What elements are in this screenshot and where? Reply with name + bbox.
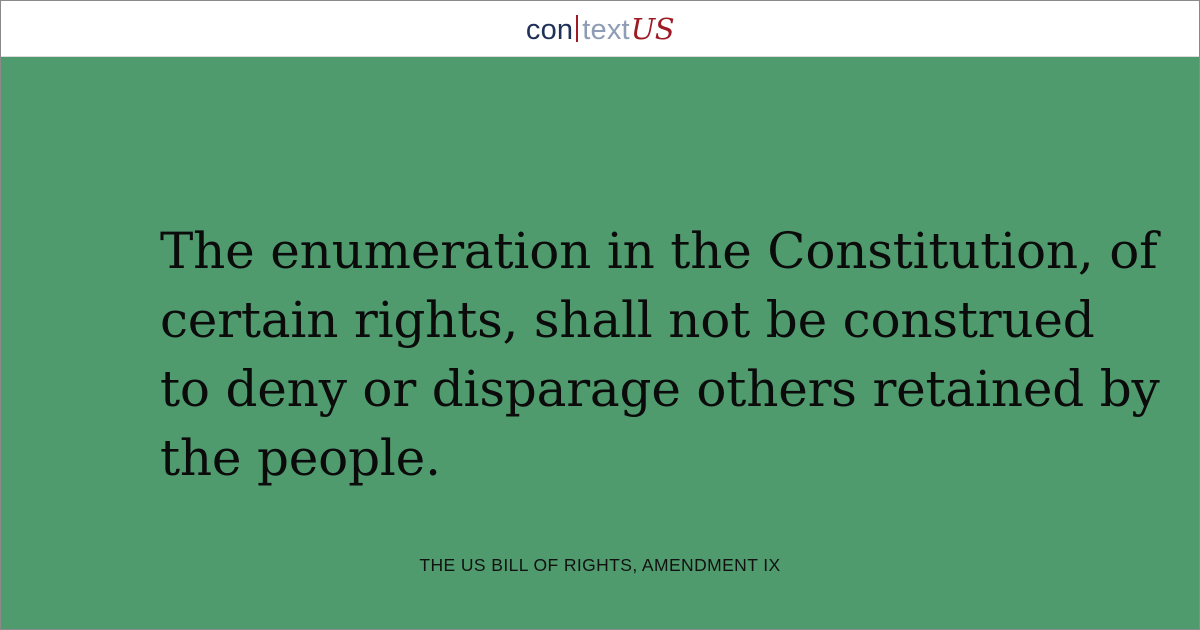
quote-line: the people. (160, 424, 1150, 493)
site-header: con text US (1, 1, 1199, 57)
logo-word-text: text (582, 16, 630, 45)
contextus-logo[interactable]: con text US (526, 12, 674, 45)
quote-attribution: THE US BILL OF RIGHTS, AMENDMENT IX (1, 555, 1199, 576)
logo-word-con: con (526, 16, 573, 45)
quote-line: to deny or disparage others retained by (160, 355, 1150, 424)
quote-stage: The enumeration in the Constitution, of … (1, 57, 1199, 629)
logo-word-us: US (631, 15, 674, 44)
quote-line: certain rights, shall not be construed (160, 286, 1150, 355)
logo-divider-bar (576, 15, 578, 42)
quote-line: The enumeration in the Constitution, of (160, 217, 1150, 286)
quote-text: The enumeration in the Constitution, of … (160, 217, 1150, 493)
quote-card: con text US The enumeration in the Const… (0, 0, 1200, 630)
